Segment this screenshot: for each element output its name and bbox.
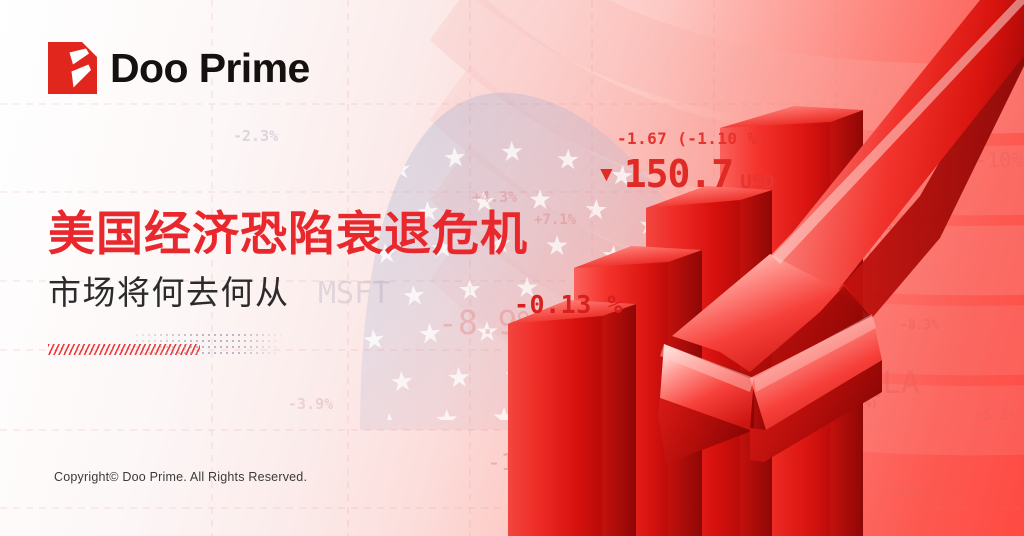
copyright-label: Copyright© Doo Prime. All Rights Reserve…	[54, 470, 307, 484]
brand-logo[interactable]: Doo Prime	[48, 42, 310, 94]
dot-grid-decoration	[134, 332, 282, 354]
bar-percent-label: -0.13 %	[514, 290, 623, 319]
quote-currency-label: USD	[740, 171, 774, 193]
quote-price-value: 150.7	[624, 155, 733, 193]
chart-3d-bars-and-arrow	[420, 0, 1024, 536]
quote-change-label: -1.67 (-1.10 %)	[617, 129, 768, 148]
bar-1	[508, 300, 636, 536]
quote-price-block: ▼ 150.7 USD	[596, 155, 775, 193]
decorative-divider	[48, 330, 298, 362]
brand-name-label: Doo Prime	[110, 48, 310, 89]
doo-prime-logo-mark-icon	[48, 42, 97, 94]
page-subtitle: 市场将何去何从	[48, 274, 290, 312]
page-title: 美国经济恐陷衰退危机	[48, 209, 528, 260]
promo-banner: -2.3%MSFT+4.3%+7.1%-8.9%-3.9%-11%-10%123…	[0, 0, 1024, 536]
down-triangle-icon: ▼	[596, 164, 617, 185]
